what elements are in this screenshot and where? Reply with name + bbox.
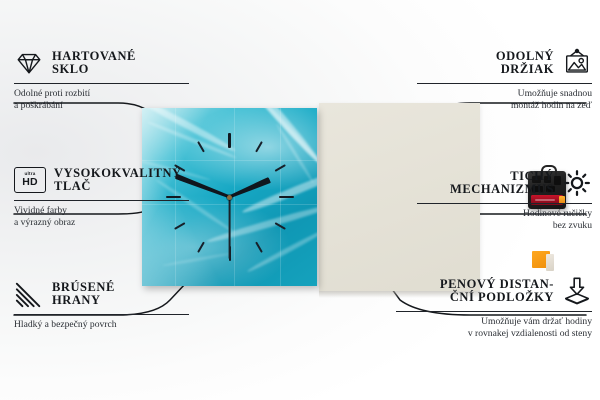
divider bbox=[417, 203, 592, 204]
feature-high-quality-print: ultra HD VYSOKOKVALITNÝ TLAČ Vividné far… bbox=[14, 163, 189, 229]
feature-description: Umožňuje vám držať hodiny v rovnakej vzd… bbox=[396, 316, 592, 340]
feature-foam-spacers: PENOVÝ DISTAN- ČNÍ PODLOŽKY Umožňuje vám… bbox=[396, 274, 592, 340]
divider bbox=[396, 311, 592, 312]
feature-durable-hanger: ODOLNÝ DRŽIAK Umožňuje snadnou montáž ho… bbox=[417, 46, 592, 112]
divider bbox=[14, 314, 189, 315]
feature-description: Umožňuje snadnou montáž hodin na zeď bbox=[417, 88, 592, 112]
feature-title: PENOVÝ DISTAN- ČNÍ PODLOŽKY bbox=[440, 278, 554, 305]
picture-frame-hanger-icon bbox=[562, 48, 592, 78]
feature-title: VYSOKOKVALITNÝ TLAČ bbox=[54, 167, 182, 194]
feature-title: BRÚSENÉ HRANY bbox=[52, 281, 115, 308]
feature-title: TICHÝ MECHANIZMUS bbox=[450, 170, 554, 197]
feature-ground-edges: BRÚSENÉ HRANY Hladký a bezpečný povrch bbox=[14, 277, 189, 331]
feature-title: HARTOVANÉ SKLO bbox=[52, 50, 136, 77]
diamond-icon bbox=[14, 48, 44, 78]
polished-edges-icon bbox=[14, 279, 44, 309]
feature-description: Hladký a bezpečný povrch bbox=[14, 319, 189, 331]
divider bbox=[14, 200, 189, 201]
feature-description: Vividné farby a výrazný obraz bbox=[14, 205, 189, 229]
foam-spacer-pad bbox=[532, 251, 554, 271]
stacked-layers-arrow-icon bbox=[562, 276, 592, 306]
feature-description: Odolné proti rozbití a poškrábání bbox=[14, 88, 189, 112]
divider bbox=[14, 83, 189, 84]
feature-silent-mechanism: TICHÝ MECHANIZMUS Hodinové ručičky bez z… bbox=[417, 166, 592, 232]
ultra-hd-icon: ultra HD bbox=[14, 167, 46, 193]
feature-description: Hodinové ručičky bez zvuku bbox=[417, 208, 592, 232]
feature-title: ODOLNÝ DRŽIAK bbox=[496, 50, 554, 77]
second-hand bbox=[229, 197, 231, 259]
divider bbox=[417, 83, 592, 84]
infographic-canvas: HARTOVANÉ SKLO Odolné proti rozbití a po… bbox=[0, 0, 600, 400]
hands-center-cap bbox=[227, 195, 232, 200]
feature-tempered-glass: HARTOVANÉ SKLO Odolné proti rozbití a po… bbox=[14, 46, 189, 112]
gear-icon bbox=[562, 168, 592, 198]
